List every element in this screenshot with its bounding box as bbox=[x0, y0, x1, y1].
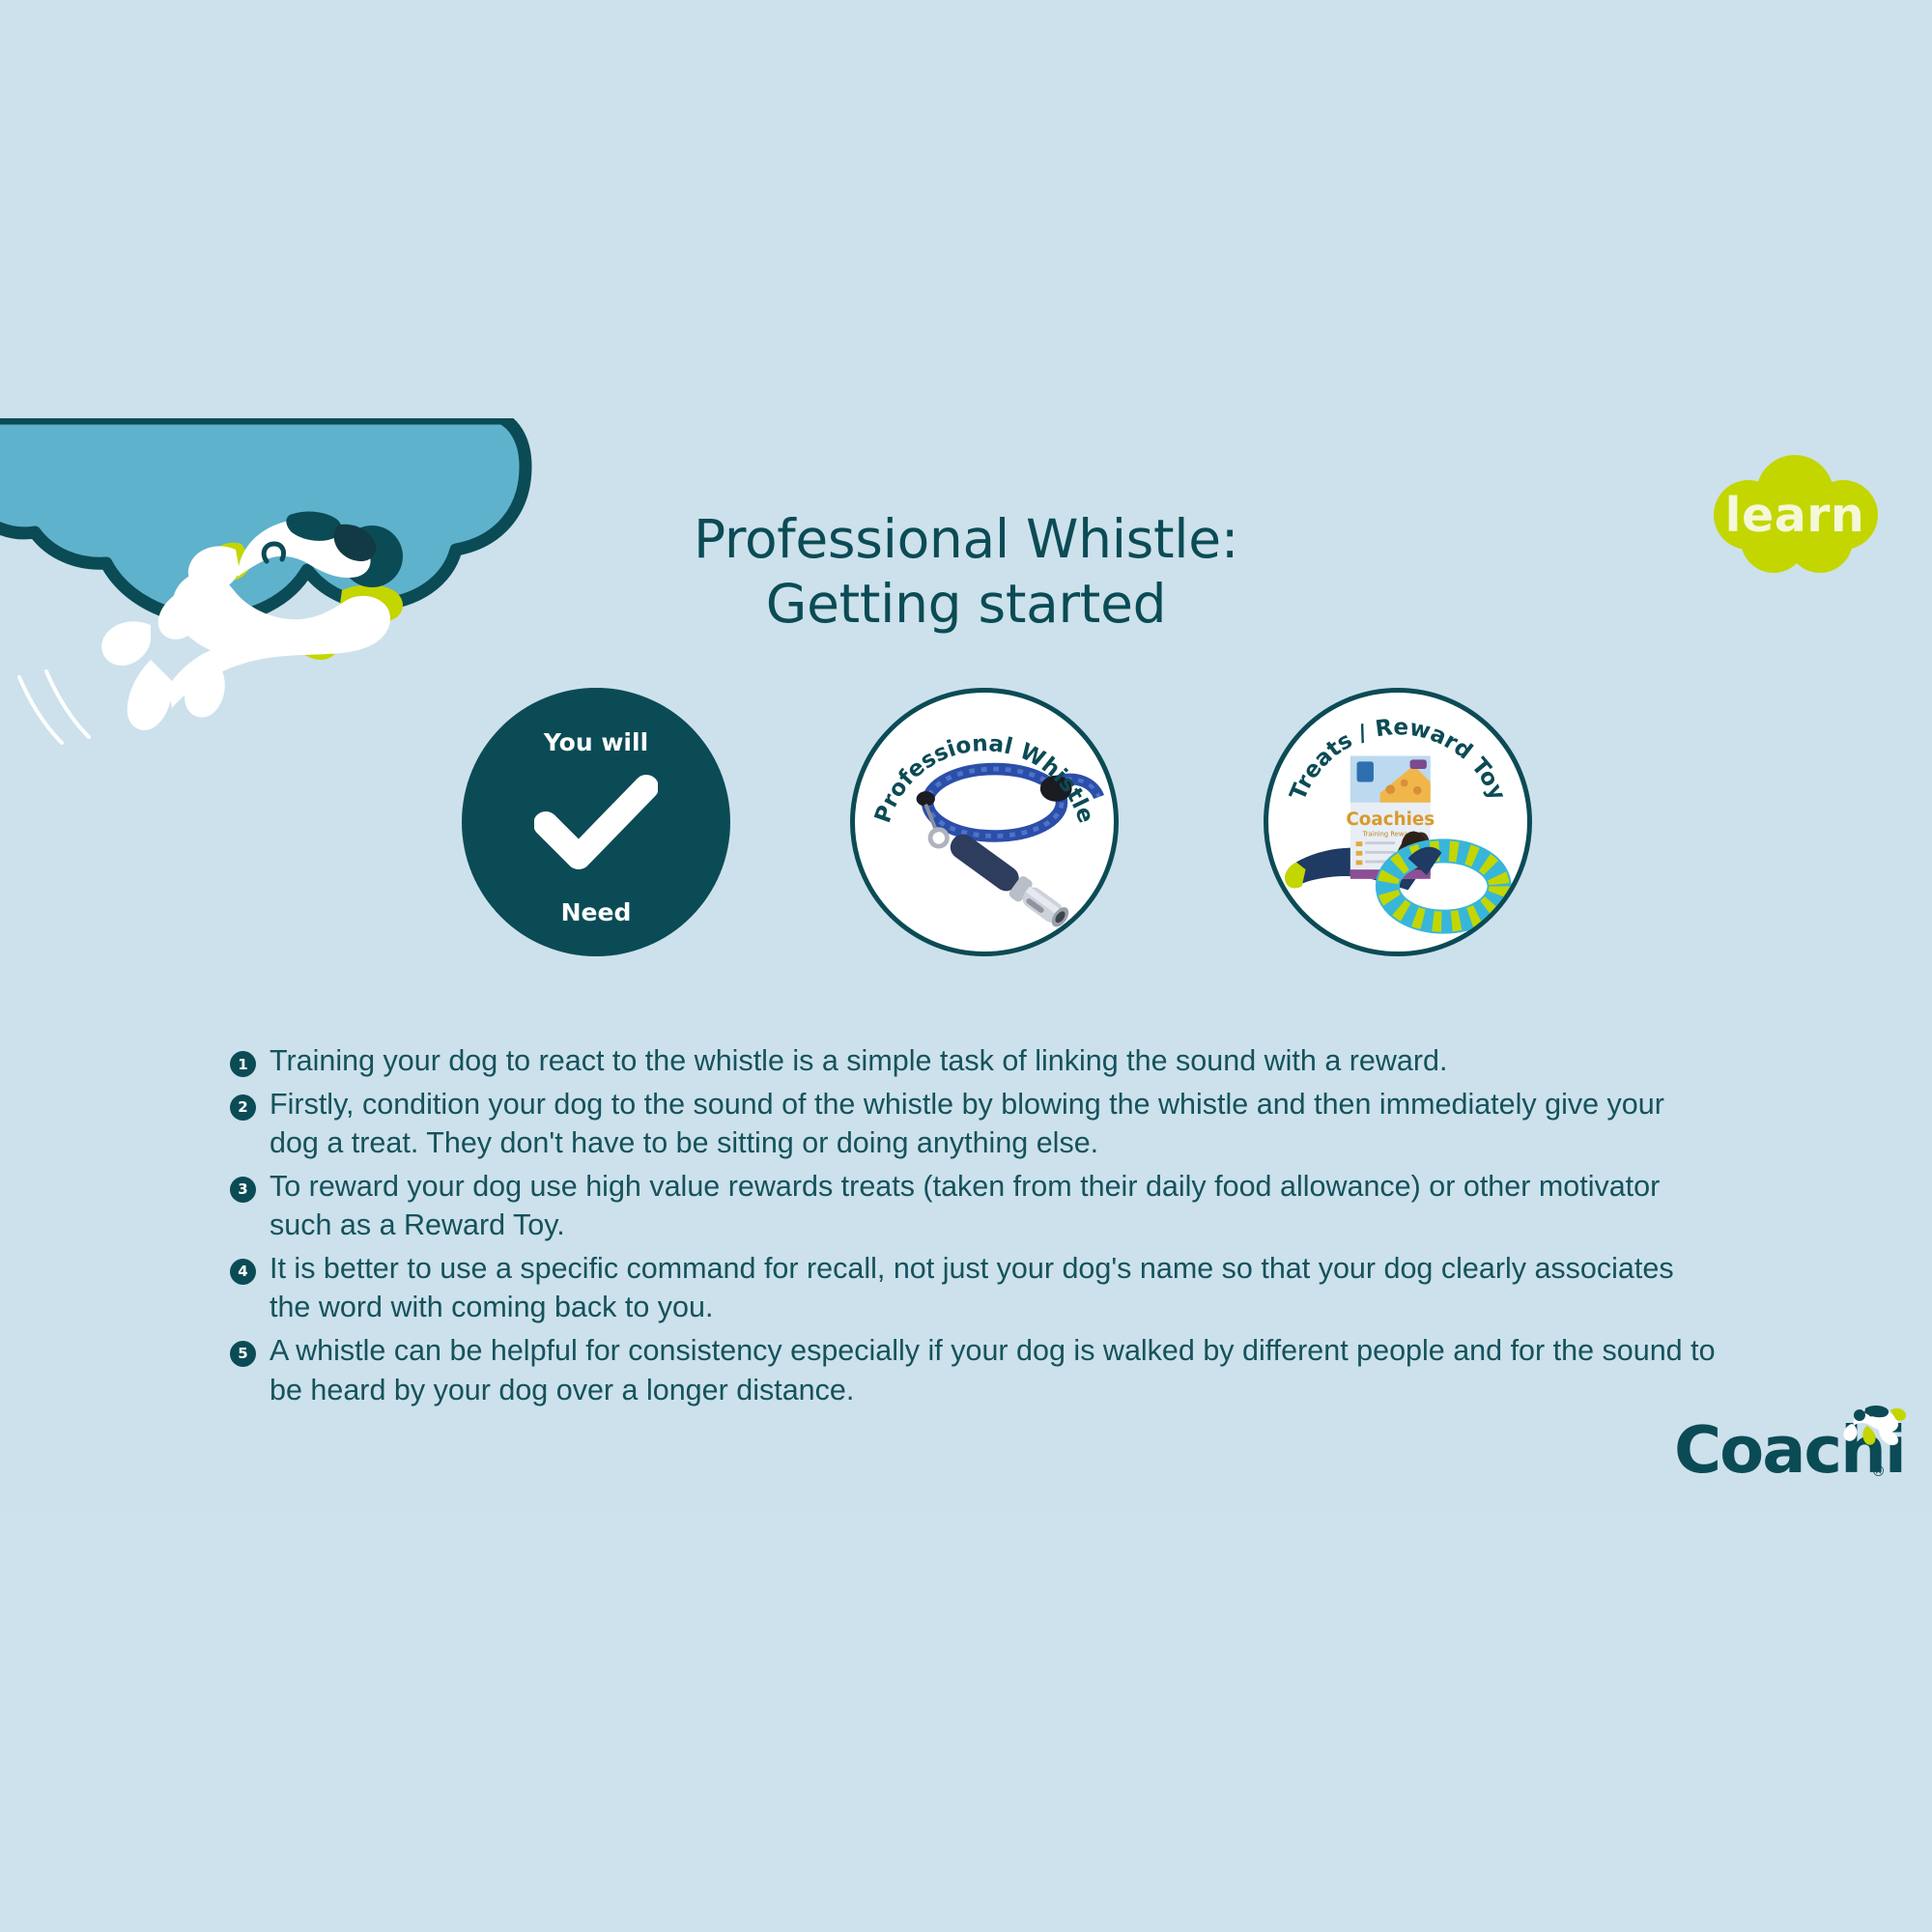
step-text: Training your dog to react to the whistl… bbox=[270, 1041, 1718, 1081]
learn-badge[interactable]: learn bbox=[1698, 447, 1891, 582]
badges-row: You will Need bbox=[452, 688, 1515, 968]
badge-you-will-need: You will Need bbox=[462, 688, 730, 956]
treats-toy-product-image: Coachies Training Rewards bbox=[1268, 693, 1527, 952]
steps-list: 1 Training your dog to react to the whis… bbox=[230, 1041, 1718, 1413]
list-item: 5 A whistle can be helpful for consisten… bbox=[230, 1331, 1718, 1409]
step-number: 5 bbox=[230, 1341, 256, 1367]
trademark-symbol: ® bbox=[1871, 1463, 1886, 1480]
coachi-logo: Coachi ® bbox=[1674, 1403, 1896, 1499]
badge-treats-reward-toy: Coachies Training Rewards bbox=[1264, 688, 1532, 956]
step-text: To reward your dog use high value reward… bbox=[270, 1167, 1718, 1245]
list-item: 4 It is better to use a specific command… bbox=[230, 1249, 1718, 1327]
svg-text:Coachies: Coachies bbox=[1346, 810, 1435, 830]
page-title: Professional Whistle: Getting started bbox=[541, 507, 1391, 637]
background-band-top bbox=[0, 0, 1932, 418]
check-mark-icon bbox=[534, 774, 658, 870]
step-number: 3 bbox=[230, 1177, 256, 1203]
list-item: 3 To reward your dog use high value rewa… bbox=[230, 1167, 1718, 1245]
step-number: 4 bbox=[230, 1259, 256, 1285]
badge-bottom-label: Need bbox=[462, 898, 730, 926]
step-text: A whistle can be helpful for consistency… bbox=[270, 1331, 1718, 1409]
step-text: It is better to use a specific command f… bbox=[270, 1249, 1718, 1327]
step-number: 1 bbox=[230, 1051, 256, 1077]
list-item: 2 Firstly, condition your dog to the sou… bbox=[230, 1085, 1718, 1163]
step-text: Firstly, condition your dog to the sound… bbox=[270, 1085, 1718, 1163]
background-band-bottom bbox=[0, 1507, 1932, 1932]
page-title-line2: Getting started bbox=[541, 572, 1391, 637]
badge-professional-whistle: Professional Whistle bbox=[850, 688, 1119, 956]
list-item: 1 Training your dog to react to the whis… bbox=[230, 1041, 1718, 1081]
infographic-page: learn Professional Whistle: Getting star… bbox=[0, 0, 1932, 1932]
learn-badge-label: learn bbox=[1698, 447, 1891, 582]
page-title-line1: Professional Whistle: bbox=[541, 507, 1391, 572]
coachi-dog-icon bbox=[1840, 1397, 1908, 1451]
badge-content: You will Need bbox=[462, 688, 730, 956]
badge-top-label: You will bbox=[462, 728, 730, 756]
step-number: 2 bbox=[230, 1094, 256, 1121]
whistle-product-image bbox=[855, 693, 1114, 952]
